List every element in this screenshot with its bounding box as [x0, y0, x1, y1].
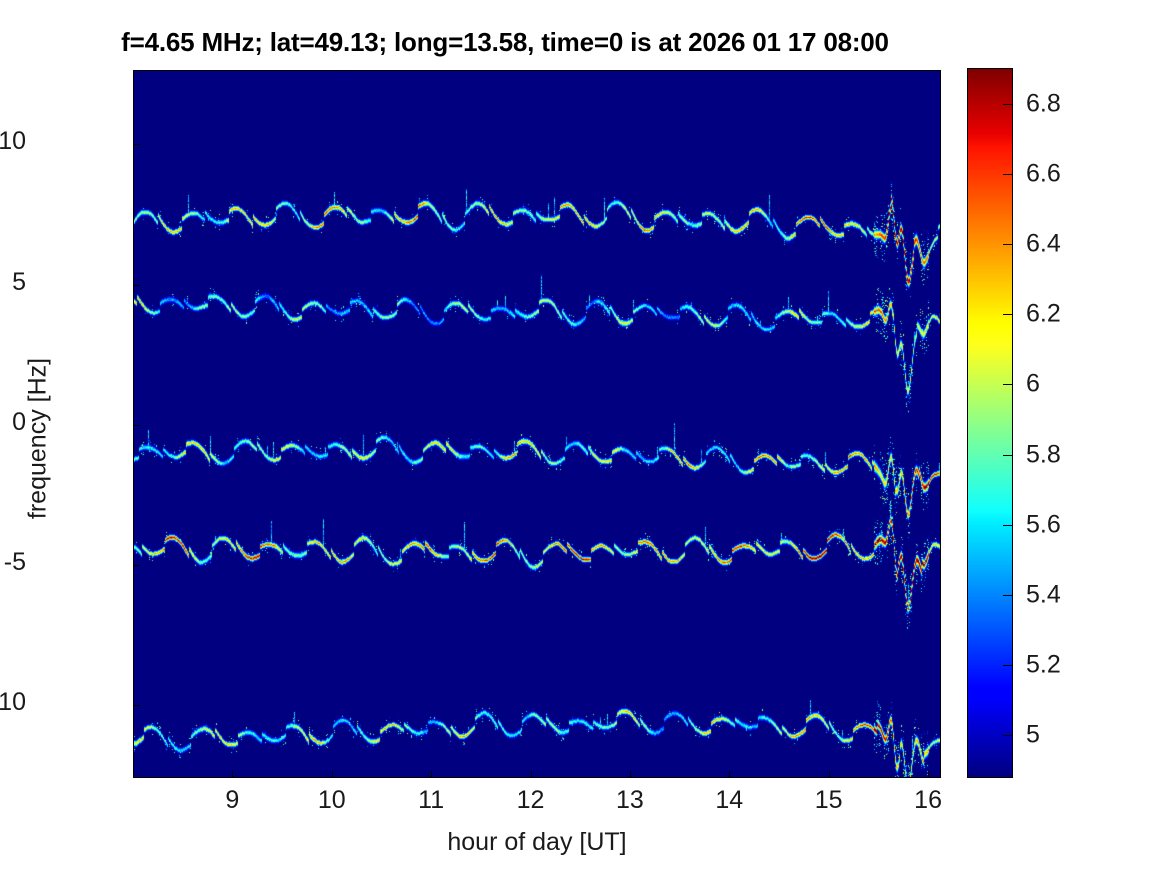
colorbar-tick-mark [1003, 244, 1013, 245]
y-tick-text: -10 [0, 688, 26, 717]
x-tick-mark [729, 771, 730, 778]
x-axis-label: hour of day [UT] [133, 828, 941, 857]
y-tick-text: 10 [0, 127, 26, 156]
y-tick-mark [133, 565, 140, 566]
y-tick-mark [133, 144, 140, 145]
colorbar-tick-label: 5.4 [1026, 580, 1061, 609]
colorbar-tick-mark [1003, 314, 1013, 315]
colorbar-tick-label: 6 [1026, 370, 1040, 399]
x-tick-mark [630, 771, 631, 778]
colorbar-gradient [968, 69, 1012, 777]
x-tick-label: 15 [815, 786, 843, 815]
colorbar-tick-mark [1003, 665, 1013, 666]
colorbar-tick-label: 6.4 [1026, 230, 1061, 259]
colorbar-tick-label: 5 [1026, 720, 1040, 749]
y-axis-label: frequency [Hz] [24, 289, 53, 589]
y-tick-text: 5 [12, 268, 26, 297]
colorbar-tick-mark [1003, 525, 1013, 526]
spectrogram-axes [133, 70, 941, 778]
x-tick-label: 10 [318, 786, 346, 815]
colorbar-tick-label: 5.8 [1026, 440, 1061, 469]
y-tick-mark [133, 285, 140, 286]
y-tick-text: -5 [4, 548, 26, 577]
colorbar-tick-mark [1003, 735, 1013, 736]
x-tick-mark [332, 771, 333, 778]
y-tick-mark [133, 425, 140, 426]
x-tick-label: 14 [715, 786, 743, 815]
x-tick-mark [928, 771, 929, 778]
spectrogram-image [134, 71, 941, 778]
colorbar-tick-mark [1003, 104, 1013, 105]
x-tick-mark [232, 771, 233, 778]
colorbar-tick-label: 5.6 [1026, 510, 1061, 539]
colorbar-tick-mark [1003, 174, 1013, 175]
x-tick-label: 16 [914, 786, 942, 815]
colorbar-tick-label: 6.6 [1026, 160, 1061, 189]
colorbar-tick-mark [1003, 455, 1013, 456]
x-tick-label: 13 [616, 786, 644, 815]
x-tick-mark [431, 771, 432, 778]
colorbar-tick-mark [1003, 384, 1013, 385]
colorbar-tick-label: 6.8 [1026, 90, 1061, 119]
figure-root: f=4.65 MHz; lat=49.13; long=13.58, time=… [0, 0, 1167, 875]
x-tick-label: 9 [225, 786, 239, 815]
x-tick-mark [829, 771, 830, 778]
colorbar-tick-mark [1003, 595, 1013, 596]
y-tick-text: 0 [12, 408, 26, 437]
x-tick-mark [531, 771, 532, 778]
colorbar-tick-label: 5.2 [1026, 650, 1061, 679]
page-title: f=4.65 MHz; lat=49.13; long=13.58, time=… [0, 27, 1010, 58]
x-tick-label: 12 [517, 786, 545, 815]
x-tick-label: 11 [418, 786, 444, 815]
y-tick-mark [133, 705, 140, 706]
colorbar-tick-label: 6.2 [1026, 300, 1061, 329]
